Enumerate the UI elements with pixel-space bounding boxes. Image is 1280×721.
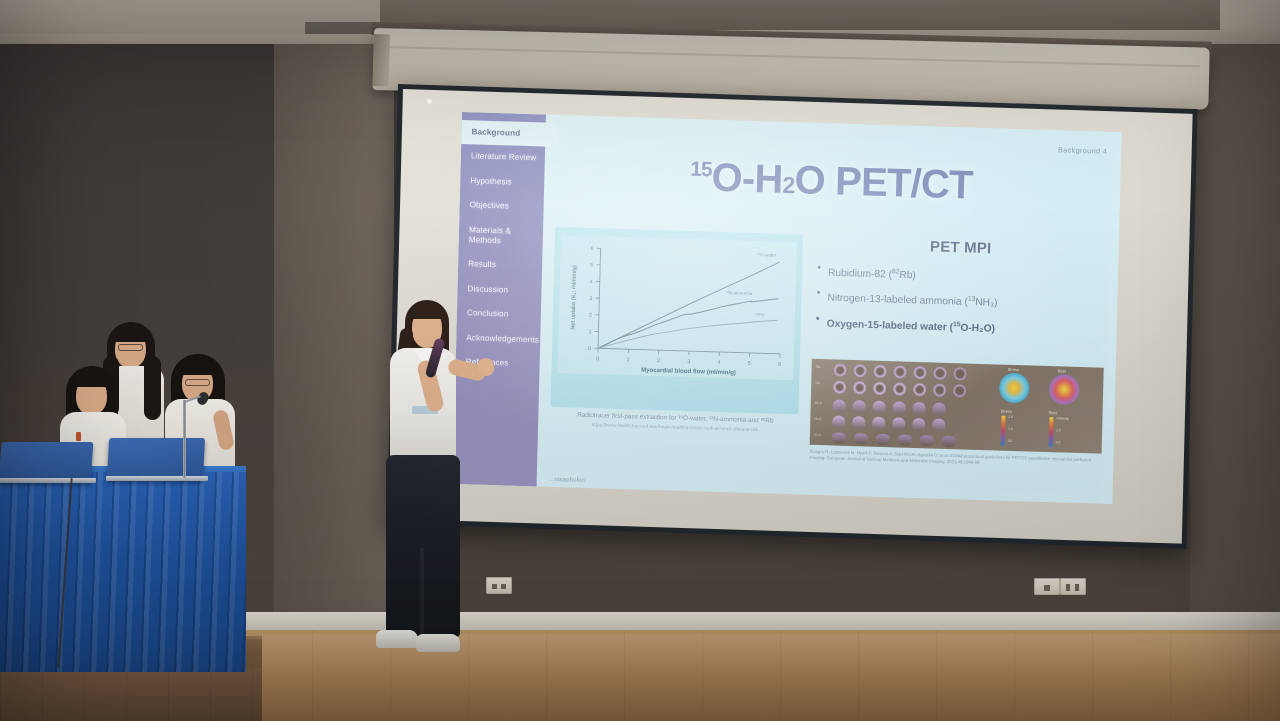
sidebar-item-literature-review[interactable]: Literature Review	[461, 144, 546, 171]
colorbar-tick: 0.0	[1056, 440, 1061, 444]
presentation-room-photo: Background Literature Review Hypothesis …	[0, 0, 1280, 721]
colorbar-rest	[1049, 417, 1054, 447]
svg-text:3: 3	[589, 296, 592, 302]
svg-text:1: 1	[588, 329, 591, 335]
pet-mpi-image: SA SA HLA HLA VLA	[810, 359, 1104, 454]
pet-tracer-list: Rubidium-82 (82Rb) Nitrogen-13-labeled a…	[813, 263, 1107, 339]
pet-slice	[872, 417, 885, 429]
panel-table-cloth	[0, 472, 246, 672]
pet-slice	[942, 436, 956, 447]
bullet-text: Rubidium-82 (	[828, 268, 892, 281]
polar-map-label-rest: Rest	[1058, 368, 1066, 373]
laptop-left-base	[0, 478, 96, 483]
chart-plot-area: 012 3456 012 3456	[557, 235, 796, 380]
svg-text:2: 2	[589, 313, 592, 319]
uptake-vs-flow-chart: 012 3456 012 3456	[557, 235, 796, 380]
bullet-text: Nitrogen-13-labeled ammonia (	[827, 293, 968, 308]
presenter	[368, 300, 498, 670]
left-wall-dark-panel	[0, 30, 300, 370]
stage-front-panel	[0, 668, 262, 721]
wall-outlet-right[interactable]	[1060, 578, 1086, 595]
pet-slice	[833, 399, 846, 411]
sidebar-item-background[interactable]: Background	[461, 120, 560, 147]
hair-fringe	[114, 328, 147, 342]
sidebar-item-objectives[interactable]: Objectives	[459, 193, 544, 220]
svg-text:4: 4	[590, 279, 593, 285]
svg-text:6: 6	[590, 246, 593, 252]
pet-slice	[893, 382, 906, 395]
sidebar-item-materials-methods[interactable]: Materials & Methods	[458, 218, 543, 255]
svg-text:1: 1	[626, 357, 629, 363]
sidebar-item-hypothesis[interactable]: Hypothesis	[460, 169, 545, 196]
pet-slice	[953, 367, 966, 380]
pet-row-label-stress-hla: HLA	[815, 401, 822, 405]
presenter-shoe-right	[416, 634, 460, 652]
hair-fringe	[74, 374, 109, 387]
svg-text:0: 0	[588, 346, 591, 352]
pet-slice	[853, 381, 866, 394]
series-label-rb82: ⁸²Rb	[755, 312, 765, 317]
chart-panel: 012 3456 012 3456	[551, 227, 803, 415]
eyeglasses	[118, 344, 143, 351]
outlet-slot	[1075, 584, 1079, 591]
laptop-left[interactable]	[0, 442, 93, 482]
svg-text:6: 6	[778, 362, 781, 368]
colorbar-tick: 1.0	[1008, 427, 1013, 431]
pet-slice	[933, 384, 946, 397]
colorbar-tick: 0.0	[1008, 439, 1013, 443]
pet-slice	[876, 434, 890, 445]
svg-text:2: 2	[657, 358, 660, 364]
pet-slice	[833, 363, 846, 376]
pet-slice	[893, 365, 906, 378]
outlet-slot	[1066, 584, 1070, 591]
svg-text:5: 5	[590, 263, 593, 269]
pet-slice	[913, 402, 926, 414]
pet-slice	[833, 380, 846, 393]
title-main-a: O-H	[711, 156, 783, 202]
title-main-b: O PET/CT	[794, 158, 973, 207]
wall-vent	[305, 22, 375, 34]
pet-slice	[854, 433, 868, 444]
colorbar-label-stress: Stress	[1001, 409, 1012, 414]
pet-slice	[893, 401, 906, 413]
sidebar-item-results[interactable]: Results	[458, 252, 543, 279]
colorbar-tick: 1.0	[1056, 428, 1061, 432]
pet-slice	[873, 401, 886, 413]
pet-slice	[852, 416, 865, 428]
colorbar-unit: ml/min/g	[1056, 416, 1068, 420]
eyeglasses	[185, 379, 210, 386]
housing-end-cap	[373, 34, 390, 86]
hair-fringe	[180, 362, 215, 375]
pet-slice	[853, 364, 866, 377]
presenter-shoe-left	[376, 630, 418, 648]
chart-caption: Radiotracer first-pass extraction for ¹⁵…	[548, 411, 802, 437]
pet-slice	[853, 400, 866, 412]
list-item-oxygen-15-water: Oxygen-15-labeled water (15O-H₂O)	[813, 314, 1105, 339]
svg-text:5: 5	[748, 361, 751, 367]
svg-text:3: 3	[687, 359, 690, 365]
outlet-slot	[501, 584, 506, 589]
microphone-stand	[183, 400, 186, 478]
pet-slice	[832, 415, 845, 427]
pet-slice	[832, 432, 846, 443]
pet-slice	[932, 403, 945, 415]
colorbar-label-rest: Rest	[1049, 410, 1057, 415]
pet-slice	[953, 384, 966, 397]
pet-slice	[892, 417, 905, 429]
polar-map-label-stress: Stress	[1008, 367, 1019, 372]
laptop-right[interactable]	[107, 438, 205, 480]
title-subscript: 2	[782, 172, 795, 198]
laptop-right-base	[106, 476, 208, 481]
pet-slice-grid: SA SA HLA HLA VLA	[810, 359, 1104, 454]
presentation-slide: Background Literature Review Hypothesis …	[453, 112, 1122, 504]
list-item-rubidium-82: Rubidium-82 (82Rb)	[814, 263, 1106, 288]
colorbar-stress	[1001, 416, 1006, 446]
pet-row-label-vla: VLA	[814, 433, 821, 437]
slide-section-header: Background 4	[1058, 145, 1107, 155]
wall-outlet-center[interactable]	[1034, 578, 1060, 595]
polar-map-rest	[1049, 374, 1080, 405]
screen-hotspot-left	[427, 99, 432, 104]
pet-slice	[873, 365, 886, 378]
bullet-tail: NH₃)	[975, 298, 998, 310]
pet-slice	[933, 367, 946, 380]
list-item-nitrogen-13-ammonia: Nitrogen-13-labeled ammonia (13NH₃)	[813, 288, 1105, 313]
uniform-badge	[76, 432, 81, 441]
presenter-hair-fringe	[409, 305, 444, 319]
pet-row-label-stress-sa: SA	[816, 365, 821, 369]
pet-slice	[932, 419, 945, 431]
pet-slice	[913, 383, 926, 396]
pet-mpi-heading: PET MPI	[815, 235, 1107, 261]
svg-text:4: 4	[717, 360, 720, 366]
slide-title: 15O-H2O PET/CT	[552, 153, 1111, 210]
series-label-n13-ammonia: ¹³N-ammonia	[725, 290, 752, 296]
colorbar-tick: 2.0	[1008, 415, 1013, 419]
pet-row-label-rest-sa: SA	[815, 381, 820, 385]
title-superscript: 15	[690, 158, 712, 182]
bullet-tail: O-H₂O)	[960, 322, 995, 334]
pet-slice	[912, 418, 925, 430]
right-wall-column	[1190, 30, 1280, 630]
bullet-text: Oxygen-15-labeled water (	[827, 318, 953, 333]
series-label-o15-water: ¹⁵O-water	[756, 252, 776, 258]
svg-text:0: 0	[596, 356, 599, 362]
pet-slice	[920, 435, 934, 446]
slide-footer: ...nisaphokin	[549, 477, 585, 484]
presenter-trouser-gap	[420, 548, 424, 636]
polar-map-stress	[999, 373, 1030, 404]
pet-slice	[913, 366, 926, 379]
bullet-tail: Rb)	[899, 270, 916, 281]
outlet-slot	[1044, 585, 1050, 591]
pet-slice	[873, 382, 886, 395]
pet-slice	[898, 434, 912, 445]
pet-row-label-rest-hla: HLA	[814, 417, 821, 421]
